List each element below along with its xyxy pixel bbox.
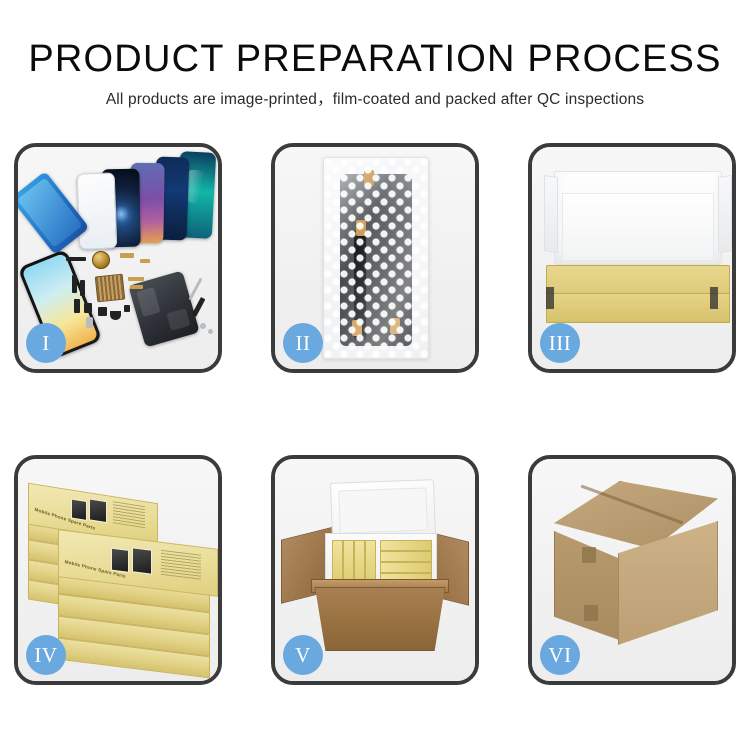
vibration-motor-part [92,251,110,269]
carton-tape-patch [584,605,598,621]
white-foam-sheet [562,193,714,261]
yellow-box-front [546,293,730,323]
process-step-panel-6: VI [528,455,736,685]
process-step-panel-1: I [14,143,222,373]
bubble-wrap-bag [323,157,429,359]
page-title: PRODUCT PREPARATION PROCESS [0,0,750,80]
step-badge-1: I [26,323,66,363]
phone-back-housing [128,271,199,348]
spare-part [86,317,93,328]
box-window-image [111,548,129,573]
spare-part [80,280,85,296]
spare-part [140,259,150,263]
carton-body [315,587,445,651]
spare-part [110,311,121,320]
box-spec-lines [161,549,201,580]
spare-part [200,323,206,329]
foam-lid-inner [338,487,427,533]
page-subtitle: All products are image-printed，film-coat… [0,80,750,109]
spare-part [74,299,80,313]
spare-part [120,253,134,258]
phone-glass-panel [77,172,118,249]
packed-yellow-box [380,540,432,551]
plastic-sheen [324,158,428,358]
process-step-panel-3: III [528,143,736,373]
spare-part [84,303,92,313]
process-step-panel-5: V [271,455,479,685]
spare-part [72,275,77,293]
box-corner-shadow [546,287,554,309]
box-window-image [132,547,152,574]
logic-board-part [95,274,126,303]
process-step-panel-2: II [271,143,479,373]
step-badge-3: III [540,323,580,363]
box-corner-shadow [710,287,718,309]
step-badge-2: II [283,323,323,363]
step-badge-6: VI [540,635,580,675]
spare-part [130,285,143,289]
step-badge-4: IV [26,635,66,675]
header: PRODUCT PREPARATION PROCESS All products… [0,0,750,109]
foam-cooler-lid [330,479,436,541]
process-step-grid: I II III [14,143,736,685]
spare-part [66,257,86,261]
step-badge-5: V [283,635,323,675]
packed-yellow-box [380,551,432,562]
spare-part [124,305,130,312]
box-window-image [71,499,87,522]
packed-yellow-box [380,562,432,573]
box-spec-lines [113,501,145,528]
carton-tape-patch [582,547,596,563]
screwdriver-handle [192,297,206,317]
spare-part [98,307,107,316]
spare-part [208,329,213,334]
spare-part [128,277,144,281]
process-step-panel-4: Mobile Phone Spare Parts Mobile Phone Sp… [14,455,222,685]
box-window-image [89,498,107,523]
